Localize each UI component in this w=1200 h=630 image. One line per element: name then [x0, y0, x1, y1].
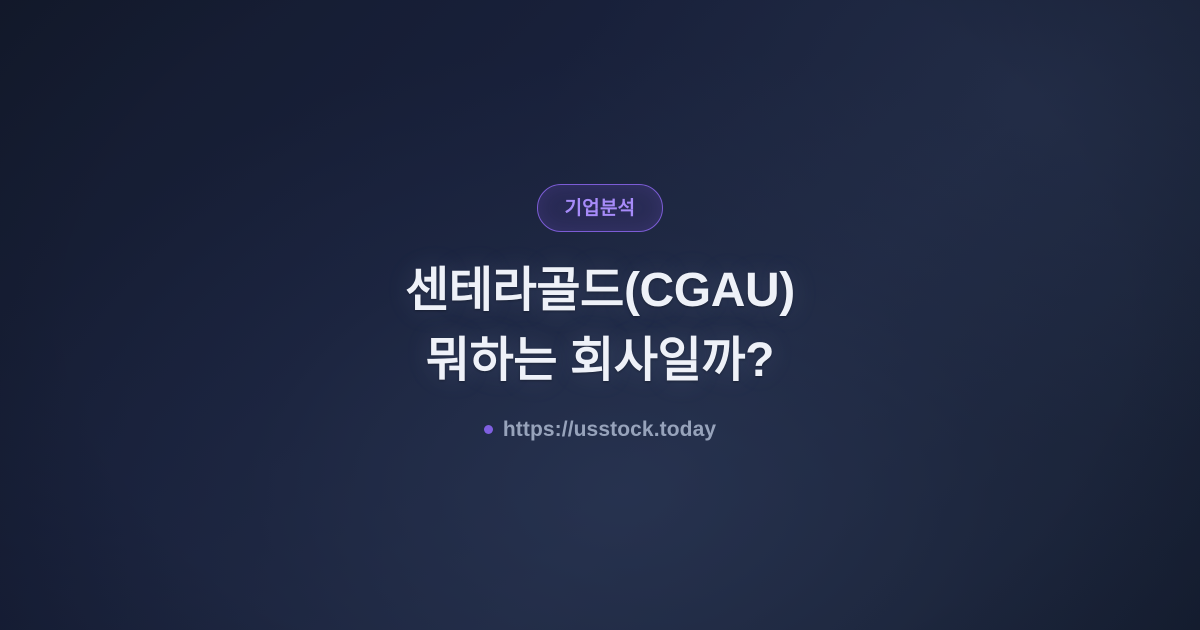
og-card: 기업분석 센테라골드(CGAU) 뭐하는 회사일까? https://ussto…	[0, 0, 1200, 630]
page-title-line-2: 뭐하는 회사일까?	[405, 326, 795, 396]
site-url-row: https://usstock.today	[484, 419, 716, 440]
dot-icon	[484, 425, 493, 434]
site-url-label: https://usstock.today	[503, 419, 716, 440]
page-title: 센테라골드(CGAU) 뭐하는 회사일까?	[405, 256, 795, 396]
category-badge-label: 기업분석	[565, 199, 636, 218]
card-content: 기업분석 센테라골드(CGAU) 뭐하는 회사일까? https://ussto…	[0, 0, 1200, 630]
category-badge: 기업분석	[537, 184, 664, 232]
page-title-line-1: 센테라골드(CGAU)	[405, 256, 795, 326]
